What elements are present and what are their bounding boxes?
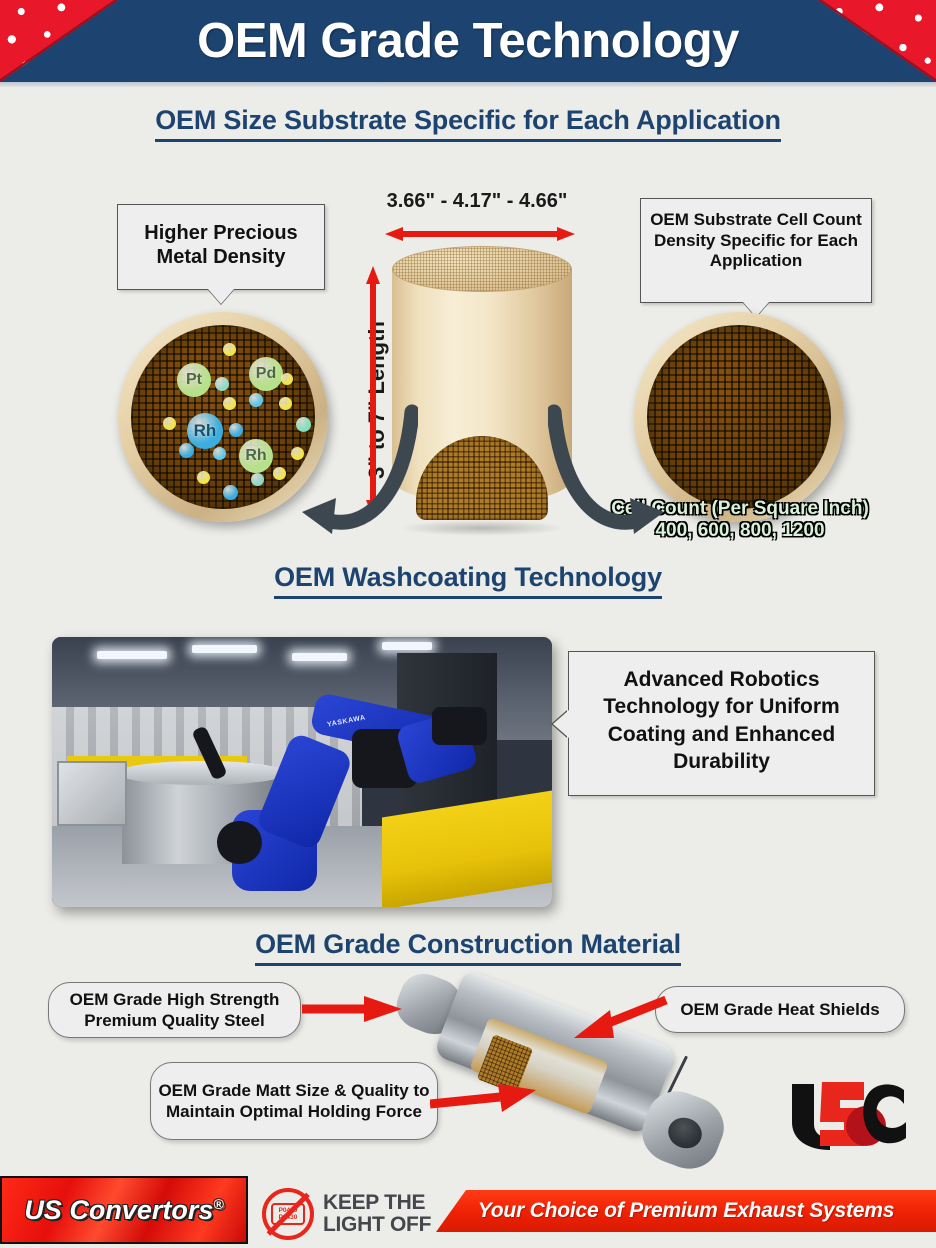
keep-the-light-off-badge: P0420 P0430 KEEP THE LIGHT OFF (262, 1188, 431, 1240)
page-footer: US Convertors® P0420 P0430 KEEP THE LIGH… (0, 1162, 936, 1248)
substrate-shadow (398, 520, 566, 536)
tagline-banner: Your Choice of Premium Exhaust Systems (436, 1190, 936, 1232)
substrate-cylinder-illustration (392, 246, 572, 526)
section-heading-substrate-text: OEM Size Substrate Specific for Each App… (155, 105, 781, 142)
us-convertors-brand: US Convertors® (24, 1195, 223, 1226)
red-arrow-steel-icon (302, 996, 402, 1022)
precious-metal-pd: Pd (249, 357, 283, 391)
page-header: OEM Grade Technology (0, 0, 936, 82)
substrate-width-label: 3.66" - 4.17" - 4.66" (372, 190, 582, 213)
photo-lamp (97, 651, 167, 659)
robot-joint-lower (217, 821, 262, 864)
washcoating-section: YASKAWA Advanced Robotics Technology for… (0, 599, 936, 929)
callout-precious-metal-density: Higher Precious Metal Density (117, 204, 325, 290)
callout-advanced-robotics: Advanced Robotics Technology for Uniform… (568, 651, 875, 796)
precious-metal-particle (197, 471, 210, 484)
precious-metal-particle (223, 343, 236, 356)
precious-metal-pt: Pt (177, 363, 211, 397)
usc-logo (784, 1080, 912, 1154)
photo-lamp (382, 642, 432, 650)
precious-metal-rh: Rh (239, 439, 273, 473)
keep-light-line-2: LIGHT OFF (323, 1214, 431, 1236)
section-heading-washcoating: OEM Washcoating Technology (0, 562, 936, 599)
precious-metal-particle (281, 373, 293, 385)
precious-metal-particle (223, 485, 238, 500)
photo-control-monitor (57, 761, 127, 826)
section-heading-construction: OEM Grade Construction Material (0, 929, 936, 966)
robot-end-effector (432, 707, 487, 745)
substrate-section: 3.66" - 4.17" - 4.66" 3" to 7" Length Hi… (0, 142, 936, 562)
keep-light-off-text: KEEP THE LIGHT OFF (323, 1192, 431, 1237)
precious-metal-rh: Rh (187, 413, 223, 449)
precious-metal-particle (279, 397, 292, 410)
curved-arrow-right-icon (548, 392, 666, 542)
precious-metal-particle (251, 473, 264, 486)
substrate-top-face-honeycomb (392, 246, 572, 292)
us-convertors-banner: US Convertors® (0, 1176, 248, 1244)
section-heading-substrate: OEM Size Substrate Specific for Each App… (0, 105, 936, 142)
registered-mark: ® (213, 1196, 223, 1212)
red-arrow-mat-icon (430, 1084, 536, 1112)
honeycomb-mesh-left: PtPdRhRh (131, 325, 315, 509)
check-engine-light-prohibited-icon: P0420 P0430 (262, 1188, 314, 1240)
photo-lamp (192, 645, 257, 653)
precious-metal-particle (273, 467, 286, 480)
keep-light-line-1: KEEP THE (323, 1192, 431, 1214)
factory-robot-photo: YASKAWA (52, 637, 552, 907)
precious-metal-particle (249, 393, 263, 407)
precious-metal-particle (229, 423, 243, 437)
pill-matt-holding-force: OEM Grade Matt Size & Quality to Maintai… (150, 1062, 438, 1140)
page-title: OEM Grade Technology (0, 13, 936, 69)
red-arrow-heat-shield-icon (574, 994, 670, 1038)
curved-arrow-left-icon (300, 392, 418, 542)
pill-heat-shields: OEM Grade Heat Shields (655, 986, 905, 1033)
brand-name: US Convertors (24, 1195, 213, 1225)
section-heading-washcoating-text: OEM Washcoating Technology (274, 562, 662, 599)
tagline-text: Your Choice of Premium Exhaust Systems (478, 1199, 894, 1223)
zoom-circle-precious-metals: PtPdRhRh (118, 312, 328, 522)
honeycomb-mesh-right (647, 325, 831, 509)
section-heading-construction-text: OEM Grade Construction Material (255, 929, 681, 966)
width-dimension-arrow-icon (385, 227, 575, 241)
precious-metal-particle (179, 443, 194, 458)
precious-metal-particle (215, 377, 229, 391)
pill-premium-steel: OEM Grade High Strength Premium Quality … (48, 982, 301, 1038)
precious-metal-particle (213, 447, 226, 460)
precious-metal-particle (163, 417, 176, 430)
precious-metal-particle (223, 397, 236, 410)
photo-lamp (292, 653, 347, 661)
callout-cell-count-density: OEM Substrate Cell Count Density Specifi… (640, 198, 872, 303)
